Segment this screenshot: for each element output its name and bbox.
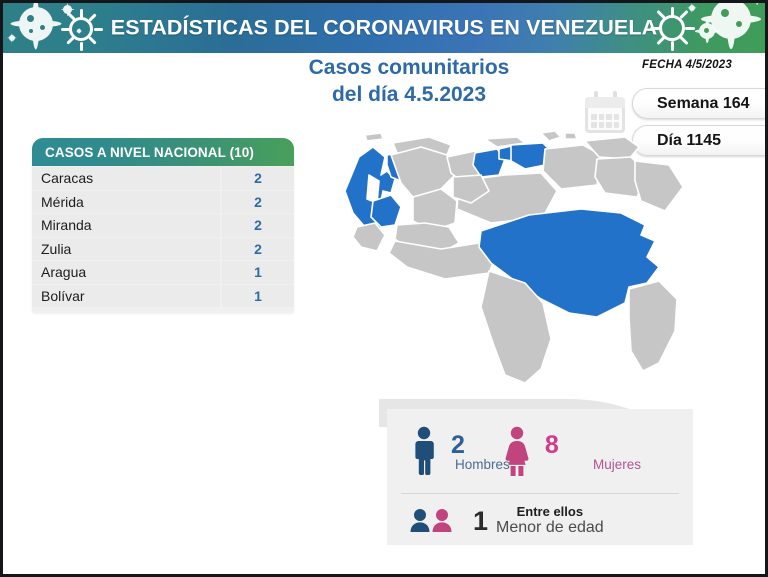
section-title-line2: del día 4.5.2023	[189, 82, 629, 109]
table-cell-cases: 2	[222, 238, 294, 261]
table-row: Aragua 1	[32, 261, 294, 284]
infographic-page: ESTADÍSTICAS DEL CORONAVIRUS EN VENEZUEL…	[0, 0, 768, 577]
minor-count: 1	[473, 508, 488, 535]
table-row: Bolívar 1	[32, 285, 294, 308]
virus-icon-small	[689, 5, 695, 11]
semana-pill[interactable]: Semana 164	[632, 88, 768, 119]
female-count: 8	[545, 433, 559, 458]
table-cell-cases: 2	[222, 167, 294, 190]
table-cell-state: Miranda	[32, 214, 220, 237]
map-state-southeast	[629, 281, 677, 371]
map-state-lara	[391, 147, 455, 197]
male-label: Hombres	[455, 457, 510, 472]
table-row: Caracas 2	[32, 167, 294, 190]
panel-divider	[401, 493, 679, 494]
table-cell-cases: 2	[222, 214, 294, 237]
map-island-margarita	[565, 133, 577, 139]
table-cell-cases: 1	[222, 261, 294, 284]
table-cell-state: Mérida	[32, 191, 220, 214]
venezuela-map	[329, 131, 767, 399]
gender-panel: 2 8 Hombres Mujeres 1	[387, 409, 693, 545]
table-cell-cases: 2	[222, 191, 294, 214]
calendar-icon	[583, 91, 627, 135]
cases-table-header: CASOS A NIVEL NACIONAL (10)	[32, 138, 294, 166]
minor-line2: Menor de edad	[496, 519, 604, 536]
female-label: Mujeres	[593, 457, 641, 472]
semana-label: Semana 164	[657, 95, 750, 113]
minor-line1: Entre ellos	[496, 505, 604, 519]
section-title-line1: Casos comunitarios	[189, 55, 629, 82]
table-row: Zulia 2	[32, 238, 294, 261]
table-cell-state: Caracas	[32, 167, 220, 190]
two-people-icon	[409, 508, 461, 534]
map-state-merida	[371, 195, 401, 227]
table-cell-state: Aragua	[32, 261, 220, 284]
table-row: Mérida 2	[32, 191, 294, 214]
map-island-west	[365, 133, 383, 141]
page-title: ESTADÍSTICAS DEL CORONAVIRUS EN VENEZUEL…	[3, 16, 765, 41]
table-cell-state: Zulia	[32, 238, 220, 261]
table-cell-cases: 1	[222, 285, 294, 308]
map-island-nueva-esparta	[541, 131, 561, 141]
male-count: 2	[451, 433, 465, 458]
map-state-delta-amacuro	[635, 161, 683, 211]
header-banner: ESTADÍSTICAS DEL CORONAVIRUS EN VENEZUEL…	[3, 3, 765, 53]
fecha-label: FECHA 4/5/2023	[603, 59, 768, 71]
minor-stat: 1 Entre ellos Menor de edad	[387, 497, 693, 545]
section-title: Casos comunitarios del día 4.5.2023	[189, 55, 629, 109]
table-cell-state: Bolívar	[32, 285, 220, 308]
cases-table: CASOS A NIVEL NACIONAL (10) Caracas 2 Mé…	[32, 138, 294, 313]
map-state-anzoategui	[543, 145, 601, 189]
table-row: Miranda 2	[32, 214, 294, 237]
male-icon	[409, 426, 439, 476]
